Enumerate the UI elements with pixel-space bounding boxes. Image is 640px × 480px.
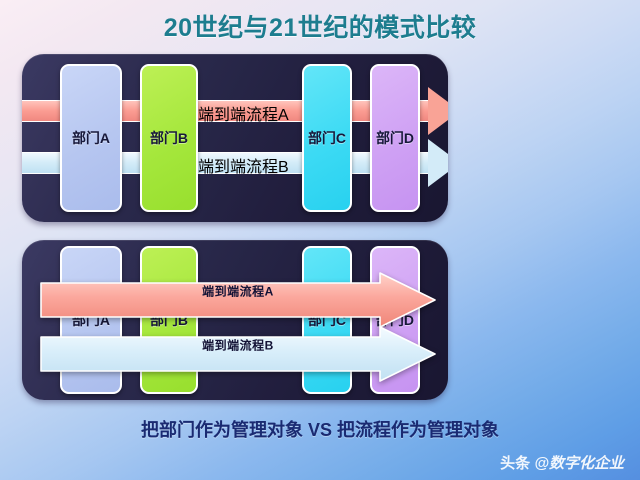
dept-box-a-top-label: 部门A <box>72 128 110 148</box>
watermark-brand: 头条 <box>500 455 530 472</box>
flow-b-label-top: 端到端流程B <box>198 159 289 176</box>
panel-processes-as-object: 部门A 部门B 部门C 部门D <box>22 240 448 400</box>
flow-b-arrow-bottom: 端到端流程B <box>40 326 436 364</box>
dept-box-b-top-label: 部门B <box>150 128 188 148</box>
flow-a-label-top: 端到端流程A <box>198 107 289 124</box>
panel-departments-as-object: 端到端流程A 端到端流程B 部门A 部门B 部门C <box>22 54 448 222</box>
dept-box-c-top-label: 部门C <box>308 128 346 148</box>
flow-b-segment-mid1 <box>122 152 140 174</box>
dept-box-d-top[interactable]: 部门D <box>370 64 420 212</box>
slide-caption: 把部门作为管理对象 VS 把流程作为管理对象 <box>0 416 640 442</box>
dept-box-a-top[interactable]: 部门A <box>60 64 122 212</box>
page-title: 20世纪与21世纪的模式比较 <box>0 8 640 44</box>
watermark: 头条 @数字化企业 <box>500 452 624 473</box>
flow-b-segment-mid2: 端到端流程B <box>198 152 302 174</box>
slide-canvas: 20世纪与21世纪的模式比较 端到端流程A 端到端流程B 部门A <box>0 0 640 480</box>
flow-a-segment-mid1 <box>122 100 140 122</box>
dept-box-b-top[interactable]: 部门B <box>140 64 198 212</box>
flow-a-segment-left <box>22 100 60 122</box>
flow-a-segment-mid2: 端到端流程A <box>198 100 302 122</box>
flow-b-segment-mid3 <box>352 152 370 174</box>
watermark-account: @数字化企业 <box>534 455 624 472</box>
panel-bottom-inner: 部门A 部门B 部门C 部门D <box>22 240 448 400</box>
flow-b-arrowhead-top <box>428 139 448 187</box>
flow-b-segment-left <box>22 152 60 174</box>
dept-box-c-top[interactable]: 部门C <box>302 64 352 212</box>
flow-a-arrow-bottom: 端到端流程A <box>40 272 436 310</box>
panel-top-inner: 端到端流程A 端到端流程B 部门A 部门B 部门C <box>22 54 448 222</box>
flow-a-segment-mid3 <box>352 100 370 122</box>
flow-a-arrowhead-top <box>428 87 448 135</box>
dept-box-d-top-label: 部门D <box>376 128 414 148</box>
